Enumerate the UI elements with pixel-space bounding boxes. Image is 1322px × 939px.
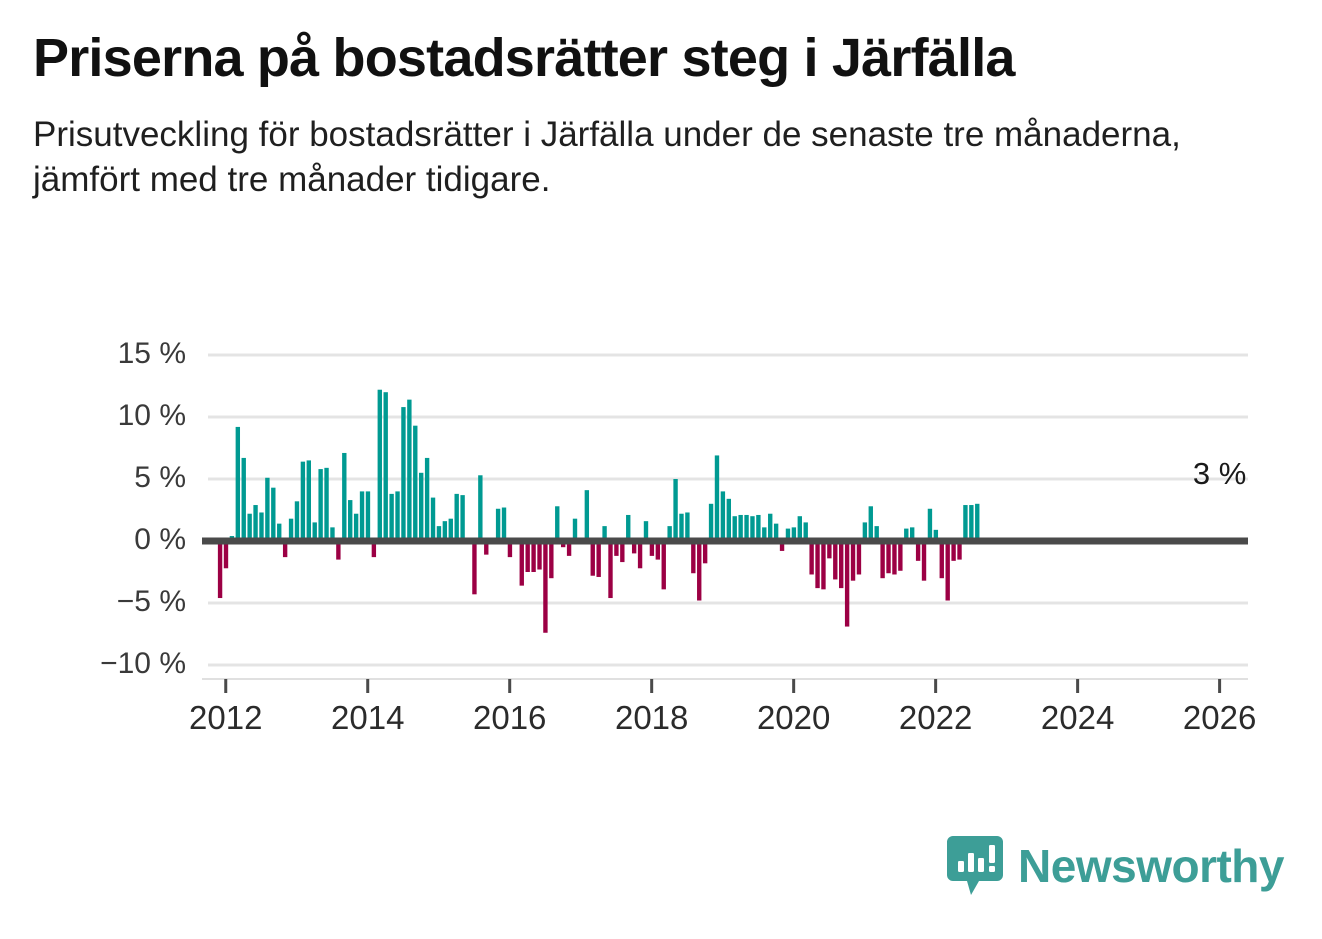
bar-negative — [809, 541, 813, 574]
bar-negative — [821, 541, 825, 589]
bar-positive — [401, 407, 405, 541]
bar-positive — [301, 462, 305, 541]
bar-negative — [525, 541, 529, 572]
bar-positive — [348, 500, 352, 541]
bar-negative — [520, 541, 524, 586]
bar-negative — [224, 541, 228, 568]
x-axis-tick-label: 2026 — [1183, 699, 1256, 736]
bar-positive — [709, 504, 713, 541]
y-axis-labels: 15 %10 %5 %0 %−5 %−10 % — [100, 337, 186, 680]
bar-negative — [886, 541, 890, 573]
bar-positive — [342, 453, 346, 541]
x-axis-tick-label: 2014 — [331, 699, 404, 736]
x-axis-tick-label: 2020 — [757, 699, 830, 736]
bar-negative — [851, 541, 855, 581]
bar-negative — [543, 541, 547, 633]
bar-negative — [880, 541, 884, 578]
bar-negative — [898, 541, 902, 571]
bar-positive — [733, 516, 737, 541]
page-title: Priserna på bostadsrätter steg i Järfäll… — [33, 28, 1293, 88]
y-axis-tick-label: 15 % — [118, 337, 186, 370]
bar-negative — [608, 541, 612, 598]
bar-positive — [928, 509, 932, 541]
bar-positive — [259, 512, 263, 541]
bar-negative — [946, 541, 950, 601]
bar-negative — [697, 541, 701, 601]
bar-negative — [940, 541, 944, 578]
bar-negative — [857, 541, 861, 574]
bar-negative — [922, 541, 926, 581]
bar-positive — [431, 498, 435, 541]
bar-positive — [253, 505, 257, 541]
bar-positive — [307, 460, 311, 541]
bar-positive — [425, 458, 429, 541]
x-axis-tick-label: 2016 — [473, 699, 546, 736]
bar-positive — [756, 515, 760, 541]
bar-negative — [845, 541, 849, 627]
bar-positive — [975, 504, 979, 541]
x-axis-tick-label: 2018 — [615, 699, 688, 736]
bar-positive — [502, 508, 506, 541]
bar-negative — [662, 541, 666, 589]
annotation-label: 3 % — [1193, 456, 1246, 491]
bar-positive — [354, 514, 358, 541]
bar-positive — [413, 426, 417, 541]
y-axis-tick-label: −5 % — [117, 585, 186, 618]
y-axis-tick-label: 5 % — [134, 461, 186, 494]
bar-positive — [360, 491, 364, 541]
bar-chart: 15 %10 %5 %0 %−5 %−10 % 2012201420162018… — [0, 330, 1322, 750]
chart-header: Priserna på bostadsrätter steg i Järfäll… — [33, 28, 1293, 203]
bar-positive — [242, 458, 246, 541]
bar-positive — [727, 499, 731, 541]
bar-positive — [247, 514, 251, 541]
bar-positive — [455, 494, 459, 541]
bar-positive — [265, 478, 269, 541]
bar-positive — [478, 475, 482, 541]
bar-negative — [691, 541, 695, 573]
x-axis: 20122014201620182020202220242026 — [189, 679, 1256, 736]
bar-positive — [236, 427, 240, 541]
newsworthy-logo[interactable]: Newsworthy — [946, 835, 1284, 897]
bar-positive — [318, 469, 322, 541]
bar-positive — [384, 392, 388, 541]
bar-negative — [549, 541, 553, 578]
bar-positive — [395, 491, 399, 541]
bar-negative — [892, 541, 896, 574]
x-axis-tick-label: 2024 — [1041, 699, 1114, 736]
bar-negative — [537, 541, 541, 570]
bar-positive — [721, 491, 725, 541]
bar-positive — [555, 506, 559, 541]
bar-positive — [496, 509, 500, 541]
bar-positive — [271, 488, 275, 541]
bar-positive — [324, 468, 328, 541]
bar-positive — [715, 455, 719, 541]
bar-negative — [815, 541, 819, 588]
bar-negative — [638, 541, 642, 568]
bar-negative — [218, 541, 222, 598]
bar-negative — [833, 541, 837, 579]
bar-positive — [366, 491, 370, 541]
chart-subtitle: Prisutveckling för bostadsrätter i Järfä… — [33, 113, 1283, 203]
bar-positive — [738, 515, 742, 541]
bar-negative — [472, 541, 476, 594]
y-axis-tick-label: 10 % — [118, 399, 186, 432]
newsworthy-bubble-icon — [946, 835, 1004, 897]
bar-positive — [750, 516, 754, 541]
logo-wordmark: Newsworthy — [1018, 843, 1284, 889]
bar-positive — [585, 490, 589, 541]
bar-positive — [378, 390, 382, 541]
x-axis-tick-label: 2012 — [189, 699, 262, 736]
bar-negative — [591, 541, 595, 576]
bar-positive — [673, 479, 677, 541]
bar-positive — [407, 400, 411, 541]
bar-positive — [685, 512, 689, 541]
bar-positive — [679, 514, 683, 541]
bar-positive — [419, 473, 423, 541]
bar-positive — [744, 515, 748, 541]
value-annotation: 3 % — [1193, 456, 1246, 491]
bars — [218, 390, 980, 633]
chart-container: 15 %10 %5 %0 %−5 %−10 % 2012201420162018… — [0, 330, 1322, 750]
bar-negative — [596, 541, 600, 577]
bar-positive — [460, 495, 464, 541]
bar-positive — [626, 515, 630, 541]
x-axis-tick-label: 2022 — [899, 699, 972, 736]
bar-positive — [389, 494, 393, 541]
y-axis-tick-label: −10 % — [100, 647, 186, 680]
bar-negative — [531, 541, 535, 572]
bar-positive — [295, 501, 299, 541]
bar-positive — [798, 516, 802, 541]
bar-negative — [839, 541, 843, 588]
bar-positive — [963, 505, 967, 541]
bar-positive — [869, 506, 873, 541]
bar-positive — [768, 514, 772, 541]
bar-positive — [969, 505, 973, 541]
y-axis-tick-label: 0 % — [134, 523, 186, 556]
